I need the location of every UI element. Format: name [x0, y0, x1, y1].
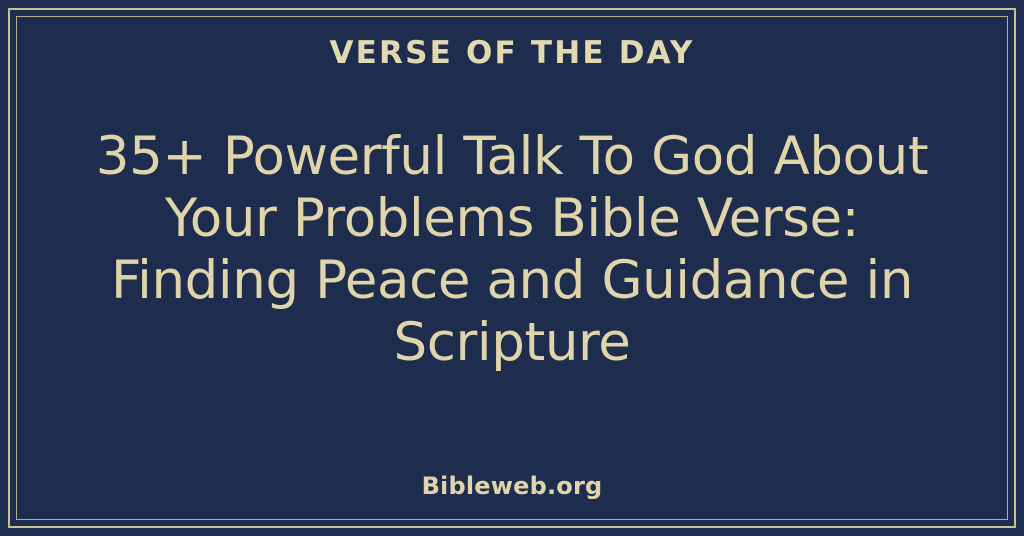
verse-of-the-day-card: VERSE OF THE DAY 35+ Powerful Talk To Go…: [0, 0, 1024, 536]
page-title: 35+ Powerful Talk To God About Your Prob…: [92, 126, 932, 374]
eyebrow-label: VERSE OF THE DAY: [329, 36, 694, 70]
card-content: VERSE OF THE DAY 35+ Powerful Talk To Go…: [0, 0, 1024, 536]
site-name: Bibleweb.org: [0, 472, 1024, 500]
